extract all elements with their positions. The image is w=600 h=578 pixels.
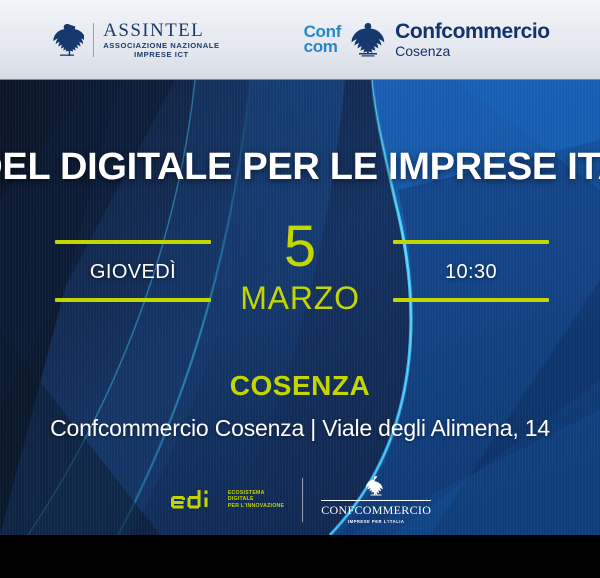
edi-tagline-line3: PER L'INNOVAZIONE [228,503,284,510]
confcommercio-eagle-icon [348,21,388,57]
assintel-subtitle-line1: ASSOCIAZIONE NAZIONALE [103,42,219,50]
time-block: 10:30 [393,240,549,302]
logo-divider [93,23,94,57]
confcommercio-italia-logo: CONFCOMMERCIO IMPRESE PER L'ITALIA [321,475,431,524]
confcommercio-footer-rule [321,500,431,501]
bottom-black-band [0,535,600,578]
assintel-name: ASSINTEL [103,21,219,40]
edi-wordmark-icon [169,488,223,512]
confcommercio-footer-eagle-icon [364,475,388,497]
confcommercio-name: Confcommercio [395,21,550,43]
sponsor-logo-band-bottom: ECOSISTEMA DIGITALE PER L'INNOVAZIONE CO… [0,475,600,524]
confcommercio-wordmark: Confcommercio Cosenza [395,21,550,59]
footer-logo-divider [302,478,303,522]
assintel-subtitle-line2: IMPRESE ICT [103,51,219,59]
time-rule-top [393,240,549,244]
confcom-mark: Conf com [304,24,342,55]
assintel-wordmark: ASSINTEL ASSOCIAZIONE NAZIONALE IMPRESE … [103,21,219,58]
edi-logo: ECOSISTEMA DIGITALE PER L'INNOVAZIONE [169,488,284,512]
date-time-row: GIOVEDÌ 5 MARZO 10:30 [0,240,600,340]
poster-content: DEL DIGITALE PER LE IMPRESE ITA GIOVEDÌ … [0,80,600,535]
edi-dot [204,490,207,493]
city-label: COSENZA [0,370,600,402]
time-rule-bottom [393,298,549,302]
event-headline: DEL DIGITALE PER LE IMPRESE ITA [0,146,600,189]
assintel-eagle-icon [50,22,84,58]
time-label: 10:30 [393,261,549,284]
confcommercio-city: Cosenza [395,44,550,59]
event-poster: ASSINTEL ASSOCIAZIONE NAZIONALE IMPRESE … [0,0,600,535]
venue-label: Confcommercio Cosenza | Viale degli Alim… [0,415,600,442]
sponsor-logo-band-top: ASSINTEL ASSOCIAZIONE NAZIONALE IMPRESE … [0,0,600,80]
confcom-mark-line2: com [304,39,342,55]
confcommercio-cosenza-logo: Conf com Confcommercio Cosenza [304,21,550,59]
edi-tagline: ECOSISTEMA DIGITALE PER L'INNOVAZIONE [228,490,284,510]
assintel-logo: ASSINTEL ASSOCIAZIONE NAZIONALE IMPRESE … [50,21,219,58]
confcommercio-footer-subtitle: IMPRESE PER L'ITALIA [321,519,431,524]
confcommercio-footer-name: CONFCOMMERCIO [321,503,431,518]
